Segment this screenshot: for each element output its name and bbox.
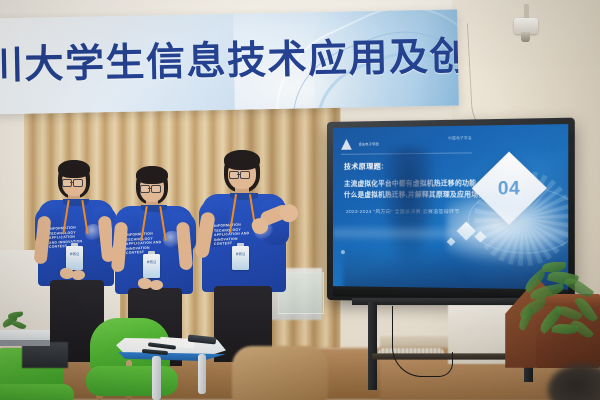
student-presenter: INFORMATION TECHNOLOGY APPLICATION AND I… [198,150,318,360]
fern-plant [512,258,600,354]
hair-fringe [58,160,90,178]
id-badge[interactable]: 参赛证 [66,246,83,270]
display-cable-2 [420,352,453,377]
plant-leaf [516,306,536,331]
green-chair-seat[interactable] [86,366,178,396]
side-table-edge [0,340,50,346]
camera-lens-icon [521,32,530,42]
small-plant [2,312,24,332]
plant-leaf [542,262,566,272]
glasses-icon [62,179,86,186]
display-brand-label [424,289,472,297]
green-chair-2-seat[interactable] [0,384,74,400]
event-banner: 川大学生信息技术应用及创新大赛 [0,9,459,114]
slide-logo-right-label: 中国电子学会 [420,135,472,146]
shirt-print: INFORMATION TECHNOLOGY APPLICATION AND I… [126,231,162,256]
badge-label: 参赛证 [66,252,83,256]
table-leg-2 [198,354,206,394]
hair-fringe [224,150,260,170]
tv-stand-leg-left [368,302,377,390]
id-badge[interactable]: 参赛证 [143,254,160,278]
shirt-print: INFORMATION TECHNOLOGY APPLICATION AND I… [214,222,253,247]
screen-glare-strip [333,224,568,243]
banner-title: 川大学生信息技术应用及创新大赛 [0,31,458,92]
glasses-icon [229,171,256,178]
glasses-icon [140,185,164,192]
plant-leaf [8,311,23,318]
wooden-chair[interactable] [232,346,328,400]
table-leg-1 [152,356,161,400]
badge-label: 参赛证 [143,260,160,264]
slide-logo-left-label: 重庆电子学院 [358,142,384,147]
institution-logo-icon [341,139,352,150]
badge-label: 参赛证 [232,252,249,256]
hair-fringe [136,166,168,184]
screenshot-root: 川大学生信息技术应用及创新大赛 重庆电子学院 中国电子学会 技术原理题: 主流虚… [0,0,600,400]
id-badge[interactable]: 参赛证 [232,246,249,270]
